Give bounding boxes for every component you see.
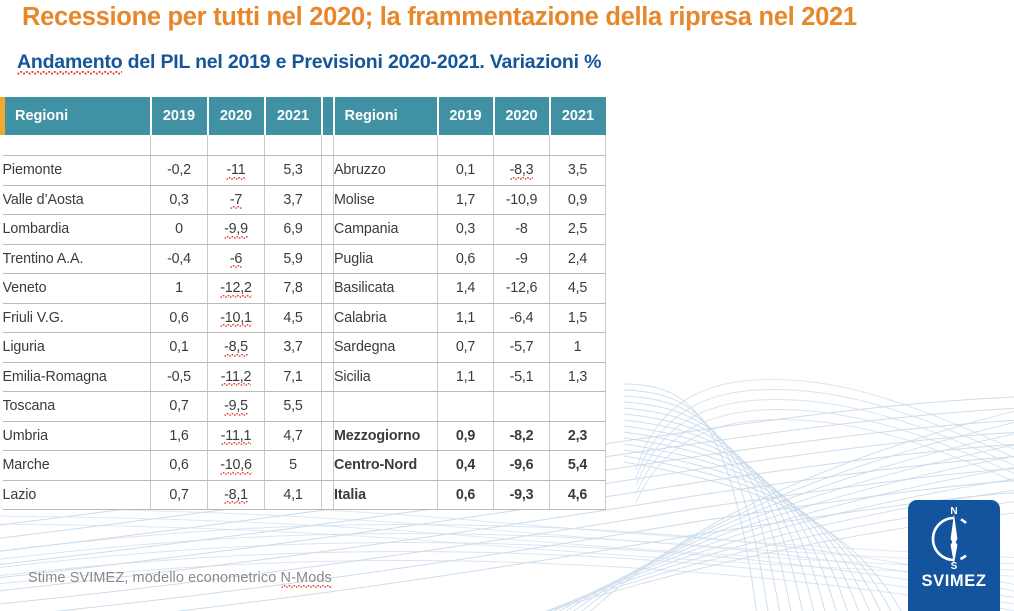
table-row: Marche0,6-10,65Centro-Nord0,4-9,65,4: [3, 451, 606, 481]
cell-left-region: Umbria: [3, 421, 151, 451]
cell-right-2019: 0,6: [438, 480, 494, 510]
spacer-cell: [208, 135, 265, 156]
cell-left-region: Veneto: [3, 274, 151, 304]
header-left-2020: 2020: [208, 97, 265, 135]
cell-right-2021: 2,5: [550, 215, 606, 245]
misspelled-value: -9,5: [224, 398, 248, 416]
cell-gap: [322, 244, 334, 274]
cell-left-2020: -9,5: [208, 392, 265, 422]
misspelled-value: -8,5: [224, 339, 248, 357]
cell-left-2019: -0,5: [151, 362, 208, 392]
cell-right-region: Mezzogiorno: [334, 421, 438, 451]
misspelled-value: -12,2: [220, 280, 252, 298]
cell-right-2021: 1,5: [550, 303, 606, 333]
cell-gap: [322, 362, 334, 392]
cell-gap: [322, 480, 334, 510]
cell-left-2020: -7: [208, 185, 265, 215]
cell-right-2019: 0,9: [438, 421, 494, 451]
cell-right-region: Basilicata: [334, 274, 438, 304]
cell-left-region: Valle d’Aosta: [3, 185, 151, 215]
cell-left-2020: -10,6: [208, 451, 265, 481]
subtitle-misspelled-word: Andamento: [17, 51, 122, 75]
header-right-2021: 2021: [550, 97, 606, 135]
cell-right-region: Sicilia: [334, 362, 438, 392]
cell-right-2021: [550, 392, 606, 422]
cell-right-2019: 0,4: [438, 451, 494, 481]
cell-left-2019: 0,7: [151, 480, 208, 510]
gdp-table: Regioni 2019 2020 2021 Regioni 2019 2020…: [0, 97, 606, 510]
cell-left-2020: -9,9: [208, 215, 265, 245]
misspelled-value: -11,2: [221, 369, 252, 387]
misspelled-value: -9,9: [224, 221, 248, 239]
spacer-cell: [494, 135, 550, 156]
cell-left-2021: 5: [265, 451, 322, 481]
cell-left-2020: -8,5: [208, 333, 265, 363]
cell-left-region: Lazio: [3, 480, 151, 510]
cell-left-region: Trentino A.A.: [3, 244, 151, 274]
table-row: Friuli V.G.0,6-10,14,5Calabria1,1-6,41,5: [3, 303, 606, 333]
cell-right-2020: -8,2: [494, 421, 550, 451]
spacer-cell: [265, 135, 322, 156]
table-row: Toscana0,7-9,55,5: [3, 392, 606, 422]
cell-right-2021: 1,3: [550, 362, 606, 392]
cell-left-region: Lombardia: [3, 215, 151, 245]
header-right-2020: 2020: [494, 97, 550, 135]
misspelled-value: -6: [230, 251, 242, 269]
spacer-cell: [334, 135, 438, 156]
cell-gap: [322, 333, 334, 363]
header-right-2019: 2019: [438, 97, 494, 135]
table-row: Liguria0,1-8,53,7Sardegna0,7-5,71: [3, 333, 606, 363]
misspelled-value: -8,3: [510, 162, 534, 180]
spacer-cell: [550, 135, 606, 156]
cell-left-2019: 0,6: [151, 303, 208, 333]
cell-left-2021: 4,7: [265, 421, 322, 451]
footnote-text: Stime SVIMEZ, modello econometrico: [28, 570, 281, 586]
cell-right-2020: -8: [494, 215, 550, 245]
svimez-logo-text: SVIMEZ: [908, 572, 1000, 591]
cell-right-2020: -12,6: [494, 274, 550, 304]
cell-left-2020: -10,1: [208, 303, 265, 333]
table-row: Piemonte-0,2-115,3Abruzzo0,1-8,33,5: [3, 156, 606, 186]
cell-right-region: [334, 392, 438, 422]
cell-right-2020: -5,7: [494, 333, 550, 363]
cell-right-2020: -9,6: [494, 451, 550, 481]
misspelled-value: -8,1: [224, 487, 248, 505]
table-row: Valle d’Aosta0,3-73,7Molise1,7-10,90,9: [3, 185, 606, 215]
cell-left-2021: 4,1: [265, 480, 322, 510]
cell-right-2021: 2,3: [550, 421, 606, 451]
table-row: Lazio0,7-8,14,1Italia0,6-9,34,6: [3, 480, 606, 510]
cell-right-2019: 0,6: [438, 244, 494, 274]
misspelled-value: -10,1: [220, 310, 252, 328]
cell-right-2021: 0,9: [550, 185, 606, 215]
spacer-cell: [151, 135, 208, 156]
subtitle-rest: del PIL nel 2019 e Previsioni 2020-2021.…: [122, 51, 601, 73]
cell-left-2020: -6: [208, 244, 265, 274]
cell-left-2019: 1,6: [151, 421, 208, 451]
cell-right-region: Molise: [334, 185, 438, 215]
cell-right-region: Centro-Nord: [334, 451, 438, 481]
cell-left-2021: 4,5: [265, 303, 322, 333]
table-row: Emilia-Romagna-0,5-11,27,1Sicilia1,1-5,1…: [3, 362, 606, 392]
cell-right-2019: 1,7: [438, 185, 494, 215]
cell-left-2019: 0,3: [151, 185, 208, 215]
cell-right-2020: -9,3: [494, 480, 550, 510]
header-left-regioni: Regioni: [3, 97, 151, 135]
slide-canvas: Recessione per tutti nel 2020; la framme…: [0, 0, 1014, 611]
header-gap-column: [322, 97, 334, 135]
cell-right-2021: 5,4: [550, 451, 606, 481]
cell-left-2019: 1: [151, 274, 208, 304]
cell-right-2020: -5,1: [494, 362, 550, 392]
misspelled-value: -11: [226, 162, 245, 180]
cell-left-2021: 5,3: [265, 156, 322, 186]
source-footnote: Stime SVIMEZ, modello econometrico N-Mod…: [28, 570, 332, 586]
cell-left-2020: -11,2: [208, 362, 265, 392]
table-row: Trentino A.A.-0,4-65,9Puglia0,6-92,4: [3, 244, 606, 274]
cell-left-2019: 0,7: [151, 392, 208, 422]
footnote-misspelled-word: N-Mods: [281, 570, 332, 588]
misspelled-value: -7: [230, 192, 242, 210]
cell-left-2020: -11,1: [208, 421, 265, 451]
cell-left-2020: -8,1: [208, 480, 265, 510]
cell-right-2020: -10,9: [494, 185, 550, 215]
cell-right-2021: 4,5: [550, 274, 606, 304]
cell-left-2019: 0,1: [151, 333, 208, 363]
cell-right-2021: 1: [550, 333, 606, 363]
cell-gap: [322, 185, 334, 215]
cell-left-region: Toscana: [3, 392, 151, 422]
cell-gap: [322, 392, 334, 422]
cell-left-2021: 5,5: [265, 392, 322, 422]
table-row: Umbria1,6-11,14,7Mezzogiorno0,9-8,22,3: [3, 421, 606, 451]
cell-left-region: Friuli V.G.: [3, 303, 151, 333]
cell-gap: [322, 451, 334, 481]
cell-left-2019: -0,4: [151, 244, 208, 274]
cell-gap: [322, 215, 334, 245]
cell-right-2021: 2,4: [550, 244, 606, 274]
cell-right-2020: -9: [494, 244, 550, 274]
cell-right-2019: 0,3: [438, 215, 494, 245]
cell-left-2021: 7,1: [265, 362, 322, 392]
compass-icon: N S: [908, 500, 1000, 572]
cell-left-2021: 3,7: [265, 333, 322, 363]
cell-left-region: Piemonte: [3, 156, 151, 186]
cell-left-2021: 3,7: [265, 185, 322, 215]
slide-subtitle: Andamento del PIL nel 2019 e Previsioni …: [17, 51, 917, 74]
gdp-table-body: Piemonte-0,2-115,3Abruzzo0,1-8,33,5Valle…: [3, 135, 606, 510]
cell-left-2020: -12,2: [208, 274, 265, 304]
slide-title: Recessione per tutti nel 2020; la framme…: [22, 3, 982, 32]
cell-right-region: Puglia: [334, 244, 438, 274]
cell-right-region: Italia: [334, 480, 438, 510]
cell-left-region: Marche: [3, 451, 151, 481]
cell-left-region: Emilia-Romagna: [3, 362, 151, 392]
cell-right-region: Calabria: [334, 303, 438, 333]
misspelled-value: -11,1: [221, 428, 252, 446]
cell-left-2021: 7,8: [265, 274, 322, 304]
cell-right-2021: 3,5: [550, 156, 606, 186]
gdp-table-header: Regioni 2019 2020 2021 Regioni 2019 2020…: [3, 97, 606, 135]
misspelled-value: -10,6: [220, 457, 252, 475]
cell-gap: [322, 421, 334, 451]
cell-right-2019: 1,4: [438, 274, 494, 304]
spacer-cell: [438, 135, 494, 156]
cell-right-2019: 0,1: [438, 156, 494, 186]
svimez-logo: N S SVIMEZ: [908, 500, 1000, 611]
spacer-row: [3, 135, 606, 156]
cell-right-region: Campania: [334, 215, 438, 245]
cell-right-2019: 1,1: [438, 362, 494, 392]
cell-left-region: Liguria: [3, 333, 151, 363]
cell-right-2020: -8,3: [494, 156, 550, 186]
header-row: Regioni 2019 2020 2021 Regioni 2019 2020…: [3, 97, 606, 135]
cell-left-2019: 0: [151, 215, 208, 245]
cell-right-2020: [494, 392, 550, 422]
table-row: Veneto1-12,27,8Basilicata1,4-12,64,5: [3, 274, 606, 304]
cell-right-region: Abruzzo: [334, 156, 438, 186]
spacer-cell: [3, 135, 151, 156]
spacer-gap-cell: [322, 135, 334, 156]
cell-right-region: Sardegna: [334, 333, 438, 363]
table-row: Lombardia0-9,96,9Campania0,3-82,5: [3, 215, 606, 245]
cell-gap: [322, 156, 334, 186]
cell-right-2019: [438, 392, 494, 422]
header-left-2019: 2019: [151, 97, 208, 135]
cell-left-2020: -11: [208, 156, 265, 186]
cell-left-2021: 6,9: [265, 215, 322, 245]
cell-left-2019: 0,6: [151, 451, 208, 481]
cell-gap: [322, 303, 334, 333]
cell-right-2019: 1,1: [438, 303, 494, 333]
cell-left-2021: 5,9: [265, 244, 322, 274]
header-left-2021: 2021: [265, 97, 322, 135]
header-right-regioni: Regioni: [334, 97, 438, 135]
cell-right-2021: 4,6: [550, 480, 606, 510]
cell-right-2020: -6,4: [494, 303, 550, 333]
gdp-table-container: Regioni 2019 2020 2021 Regioni 2019 2020…: [0, 97, 606, 510]
cell-left-2019: -0,2: [151, 156, 208, 186]
cell-gap: [322, 274, 334, 304]
cell-right-2019: 0,7: [438, 333, 494, 363]
